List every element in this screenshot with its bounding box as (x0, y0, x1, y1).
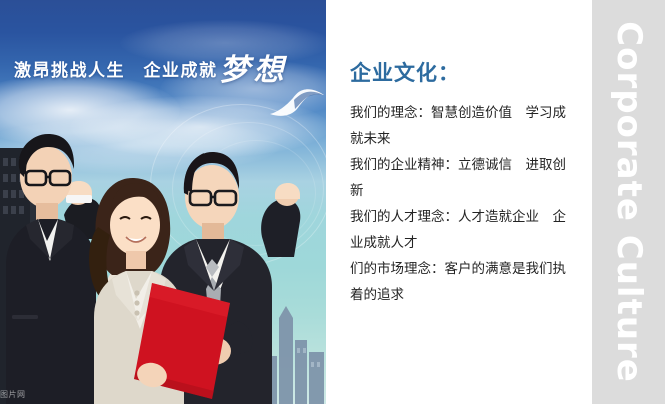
banner-headline-calligraphy: 梦想 (220, 53, 288, 88)
sidebar-vertical-label: Corporate Culture (609, 21, 649, 383)
culture-paragraph: 我们的理念：智慧创造价值 学习成就未来 (350, 100, 578, 152)
page-title: 企业文化： (350, 57, 460, 87)
culture-paragraph: 我们的企业精神：立德诚信 进取创新 (350, 152, 578, 204)
banner-headline-main: 激昂挑战人生 企业成就 (14, 61, 218, 81)
banner-headline: 激昂挑战人生 企业成就梦想 (14, 56, 314, 96)
banner-image: 激昂挑战人生 企业成就梦想 (0, 0, 326, 404)
page-root: 激昂挑战人生 企业成就梦想 (0, 0, 665, 404)
banner-watermark: 图片网 (0, 389, 26, 400)
culture-paragraph: 我们的人才理念：人才造就企业 企业成就人才 (350, 204, 578, 256)
sidebar-corporate-culture: Corporate Culture (592, 0, 665, 404)
culture-text-block: 我们的理念：智慧创造价值 学习成就未来 我们的企业精神：立德诚信 进取创新 我们… (350, 100, 578, 308)
culture-paragraph: 们的市场理念：客户的满意是我们执着的追求 (350, 256, 578, 308)
content-panel: 企业文化： 我们的理念：智慧创造价值 学习成就未来 我们的企业精神：立德诚信 进… (326, 0, 592, 404)
